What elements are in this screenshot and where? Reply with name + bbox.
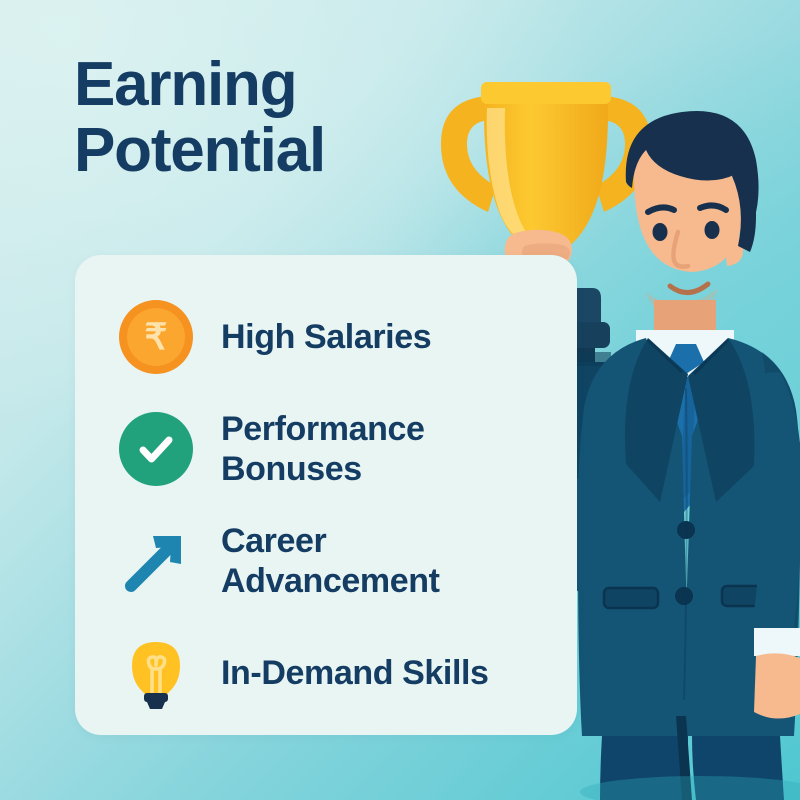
list-item[interactable]: In-Demand Skills [113, 617, 559, 729]
benefit-label: Career Advancement [221, 521, 491, 601]
list-item[interactable]: ₹ High Salaries [113, 281, 559, 393]
rupee-glyph: ₹ [127, 308, 185, 366]
arrow-up-right-glyph [119, 524, 193, 598]
check-circle-icon [113, 406, 199, 492]
list-item[interactable]: Performance Bonuses [113, 393, 559, 505]
hanging-arm [748, 372, 800, 719]
person-trousers [600, 716, 784, 800]
list-item[interactable]: Career Advancement [113, 505, 559, 617]
benefit-label: In-Demand Skills [221, 653, 489, 693]
check-glyph [134, 427, 178, 471]
lightbulb-icon [113, 630, 199, 716]
growth-arrow-icon [113, 518, 199, 604]
benefits-card: ₹ High Salaries Performance Bonuses [75, 255, 577, 735]
benefit-label: High Salaries [221, 317, 431, 357]
benefit-label: Performance Bonuses [221, 409, 491, 489]
person-suit [578, 330, 800, 736]
lightbulb-glyph [119, 636, 193, 710]
benefits-list: ₹ High Salaries Performance Bonuses [113, 281, 559, 717]
person-head [626, 111, 759, 320]
poster-canvas: Earning Potential ₹ High Salaries [0, 0, 800, 800]
rupee-coin-icon: ₹ [113, 294, 199, 380]
page-title: Earning Potential [74, 52, 504, 183]
person-neck [654, 300, 716, 357]
